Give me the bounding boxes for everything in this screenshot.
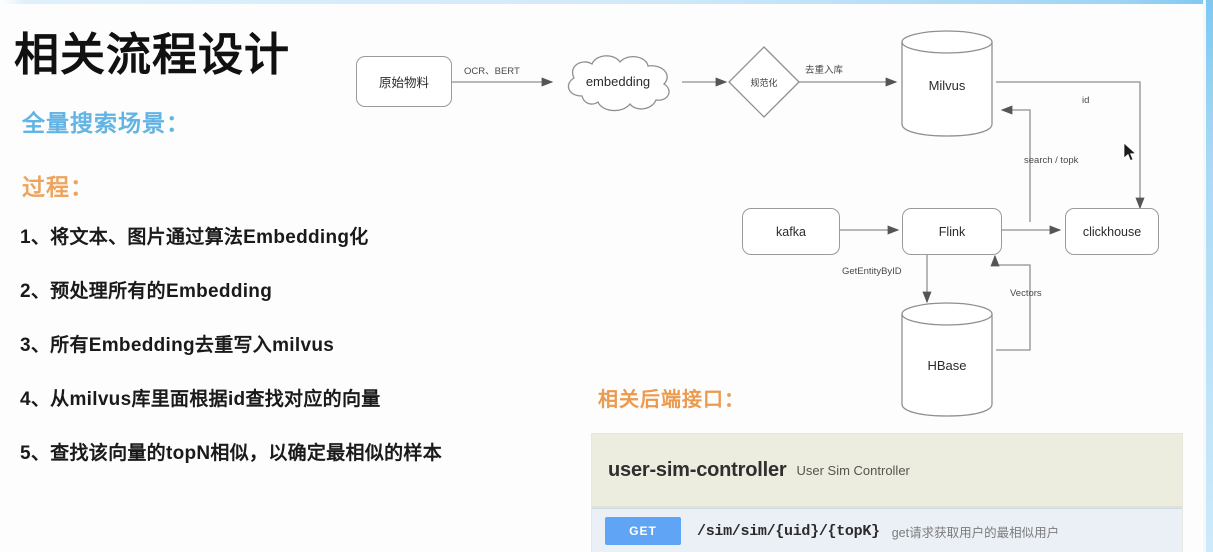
presentation-slide: 相关流程设计 全量搜索场景： 过程： 1、将文本、图片通过算法Embedding…	[0, 0, 1213, 552]
heading-backend-api: 相关后端接口：	[598, 383, 745, 412]
edge-label-get-entity-by-id: GetEntityByID	[842, 266, 902, 277]
edge-label-search-topk: search / topk	[1024, 155, 1078, 166]
list-item: 5、查找该向量的topN相似，以确定最相似的样本	[20, 438, 580, 465]
http-method-badge-get: GET	[605, 517, 681, 545]
diagram-node-hbase: HBase	[898, 300, 996, 418]
heading-search-scenario: 全量搜索场景：	[22, 104, 190, 138]
api-controller-name: user-sim-controller	[608, 459, 786, 482]
diagram-node-raw-material: 原始物料	[356, 56, 452, 107]
heading-process: 过程：	[22, 168, 94, 202]
edge-label-id: id	[1082, 95, 1089, 106]
slide-frame-top-accent	[0, 0, 1213, 4]
diagram-node-embedding: embedding	[552, 48, 684, 118]
edge-label-dedup-store: 去重入库	[805, 62, 843, 76]
api-endpoint-row[interactable]: GET /sim/sim/{uid}/{topK} get请求获取用户的最相似用…	[592, 508, 1182, 552]
diagram-node-milvus: Milvus	[898, 28, 996, 138]
architecture-flow-diagram: 原始物料 embedding 规范化 Milvus kafka Flink cl…	[330, 10, 1210, 430]
diagram-node-milvus-label: Milvus	[898, 78, 996, 93]
swagger-api-panel: user-sim-controller User Sim Controller …	[592, 434, 1182, 552]
api-endpoint-description: get请求获取用户的最相似用户	[892, 522, 1059, 541]
api-controller-header[interactable]: user-sim-controller User Sim Controller	[592, 434, 1182, 508]
edge-label-ocr-bert: OCR、BERT	[464, 63, 520, 77]
page-title: 相关流程设计	[14, 18, 290, 83]
diagram-node-clickhouse: clickhouse	[1065, 208, 1159, 255]
api-endpoint-path: /sim/sim/{uid}/{topK}	[697, 523, 880, 540]
diagram-node-embedding-label: embedding	[552, 74, 684, 89]
mouse-cursor-icon	[1124, 143, 1137, 162]
diagram-node-normalize-label: 规范化	[726, 76, 802, 89]
diagram-node-flink: Flink	[902, 208, 1002, 255]
diagram-node-normalize: 规范化	[726, 44, 802, 120]
edge-label-vectors: Vectors	[1010, 288, 1042, 299]
api-controller-description: User Sim Controller	[796, 463, 909, 478]
diagram-node-kafka: kafka	[742, 208, 840, 255]
diagram-node-hbase-label: HBase	[898, 358, 996, 373]
